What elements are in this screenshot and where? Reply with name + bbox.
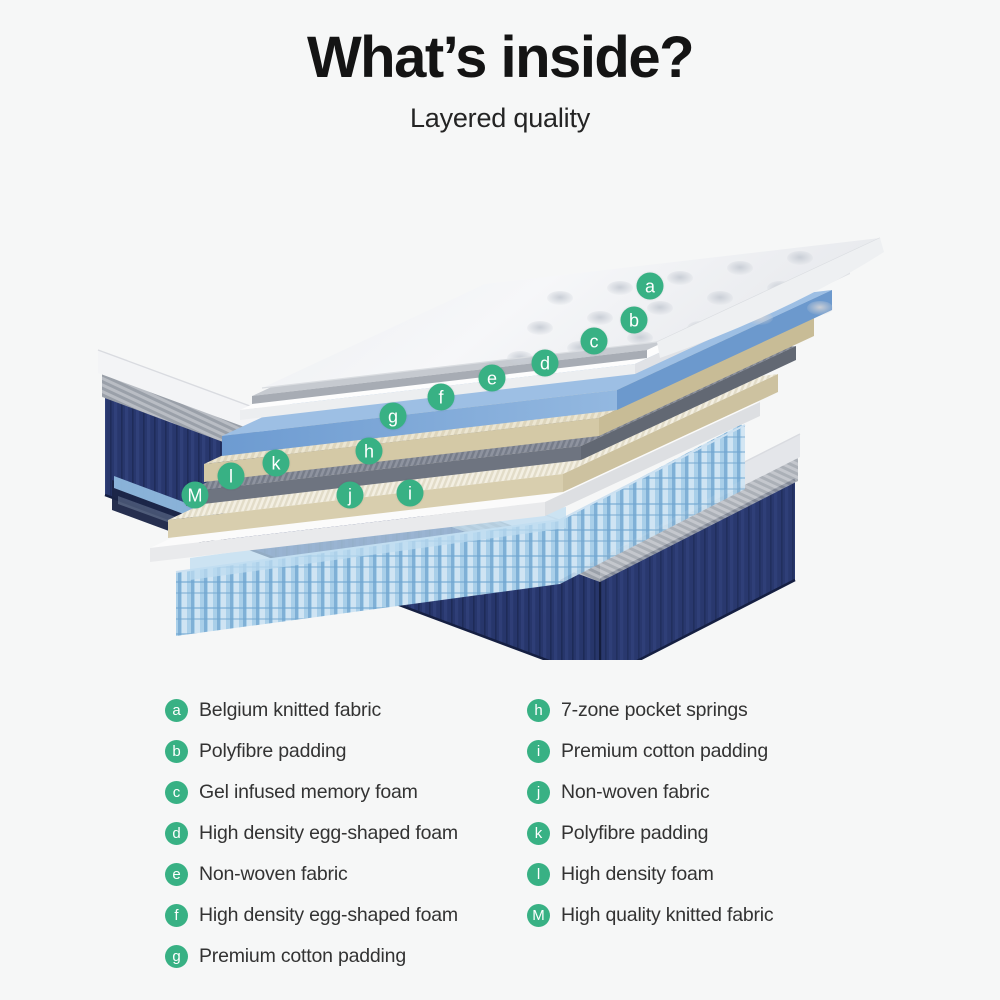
legend-item-b: bPolyfibre padding: [165, 731, 525, 771]
legend-badge-d: d: [165, 822, 188, 845]
legend-badge-i: i: [527, 740, 550, 763]
legend-badge-c: c: [165, 781, 188, 804]
legend-badge-j: j: [527, 781, 550, 804]
legend-item-j: jNon-woven fabric: [527, 772, 927, 812]
legend-label-a: Belgium knitted fabric: [199, 699, 381, 722]
legend-item-i: iPremium cotton padding: [527, 731, 927, 771]
legend-badge-f: f: [165, 904, 188, 927]
callout-badge-l[interactable]: l: [218, 463, 245, 490]
legend-item-g: gPremium cotton padding: [165, 936, 525, 976]
legend-item-e: eNon-woven fabric: [165, 854, 525, 894]
legend-badge-h: h: [527, 699, 550, 722]
legend-label-b: Polyfibre padding: [199, 740, 346, 763]
legend-item-a: aBelgium knitted fabric: [165, 690, 525, 730]
page-subtitle: Layered quality: [0, 103, 1000, 134]
mattress-illustration: [0, 180, 1000, 660]
legend-label-d: High density egg-shaped foam: [199, 822, 458, 845]
legend-label-g: Premium cotton padding: [199, 945, 406, 968]
callout-badge-i[interactable]: i: [397, 480, 424, 507]
callout-badge-e[interactable]: e: [479, 365, 506, 392]
callout-badge-f[interactable]: f: [428, 384, 455, 411]
legend-badge-M: M: [527, 904, 550, 927]
legend-badge-l: l: [527, 863, 550, 886]
callout-badge-h[interactable]: h: [356, 438, 383, 465]
legend-label-e: Non-woven fabric: [199, 863, 348, 886]
legend-label-f: High density egg-shaped foam: [199, 904, 458, 927]
legend-label-l: High density foam: [561, 863, 714, 886]
legend: aBelgium knitted fabricbPolyfibre paddin…: [0, 690, 1000, 990]
legend-badge-e: e: [165, 863, 188, 886]
callout-badge-d[interactable]: d: [532, 350, 559, 377]
legend-label-h: 7-zone pocket springs: [561, 699, 748, 722]
legend-item-c: cGel infused memory foam: [165, 772, 525, 812]
legend-badge-a: a: [165, 699, 188, 722]
legend-label-i: Premium cotton padding: [561, 740, 768, 763]
callout-badge-b[interactable]: b: [621, 307, 648, 334]
callout-badge-c[interactable]: c: [581, 328, 608, 355]
legend-label-k: Polyfibre padding: [561, 822, 708, 845]
callout-badge-k[interactable]: k: [263, 450, 290, 477]
header: What’s inside? Layered quality: [0, 0, 1000, 134]
callout-badge-a[interactable]: a: [637, 273, 664, 300]
legend-label-j: Non-woven fabric: [561, 781, 710, 804]
legend-item-M: MHigh quality knitted fabric: [527, 895, 927, 935]
legend-badge-g: g: [165, 945, 188, 968]
legend-column-left: aBelgium knitted fabricbPolyfibre paddin…: [165, 690, 525, 977]
callout-badge-j[interactable]: j: [337, 482, 364, 509]
legend-item-h: h7-zone pocket springs: [527, 690, 927, 730]
legend-item-f: fHigh density egg-shaped foam: [165, 895, 525, 935]
legend-item-l: lHigh density foam: [527, 854, 927, 894]
callout-badge-g[interactable]: g: [380, 403, 407, 430]
legend-badge-b: b: [165, 740, 188, 763]
legend-item-d: dHigh density egg-shaped foam: [165, 813, 525, 853]
legend-label-M: High quality knitted fabric: [561, 904, 773, 927]
page-title: What’s inside?: [0, 28, 1000, 89]
mattress-diagram: abcdefghijklM: [0, 180, 1000, 660]
legend-label-c: Gel infused memory foam: [199, 781, 418, 804]
legend-column-right: h7-zone pocket springsiPremium cotton pa…: [527, 690, 927, 936]
legend-badge-k: k: [527, 822, 550, 845]
legend-item-k: kPolyfibre padding: [527, 813, 927, 853]
callout-badge-M[interactable]: M: [182, 482, 209, 509]
